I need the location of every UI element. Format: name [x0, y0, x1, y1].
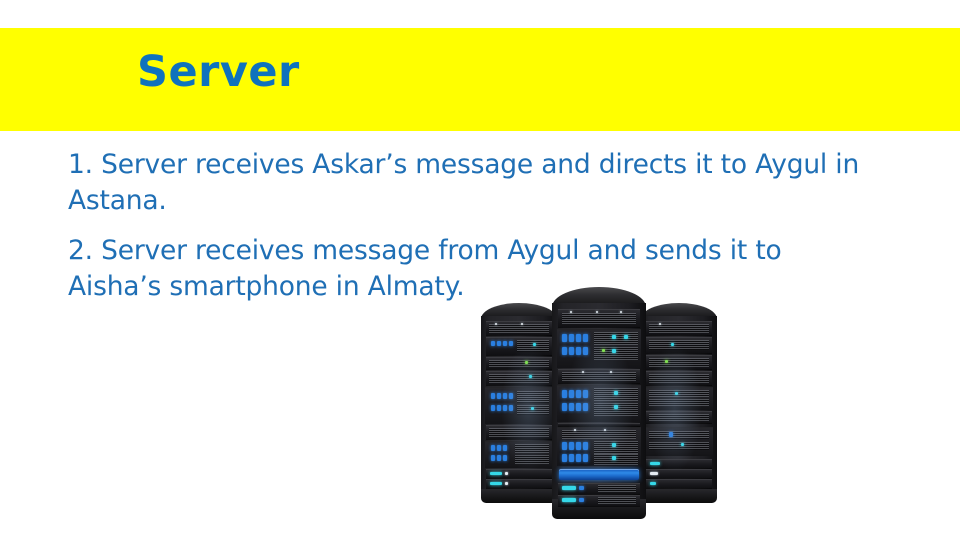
- page-title: Server: [137, 48, 300, 96]
- rack-status-bar: [559, 469, 639, 480]
- body-paragraph-2: 2. Server receives message from Aygul an…: [68, 233, 868, 305]
- server-rack-center: [552, 287, 646, 519]
- slide-canvas: Server 1. Server receives Askar’s messag…: [0, 0, 960, 540]
- server-racks-image: [481, 287, 717, 519]
- body-text-block: 1. Server receives Askar’s message and d…: [68, 147, 918, 305]
- server-rack-left: [481, 303, 557, 503]
- server-rack-right: [641, 303, 717, 503]
- body-paragraph-1: 1. Server receives Askar’s message and d…: [68, 147, 913, 219]
